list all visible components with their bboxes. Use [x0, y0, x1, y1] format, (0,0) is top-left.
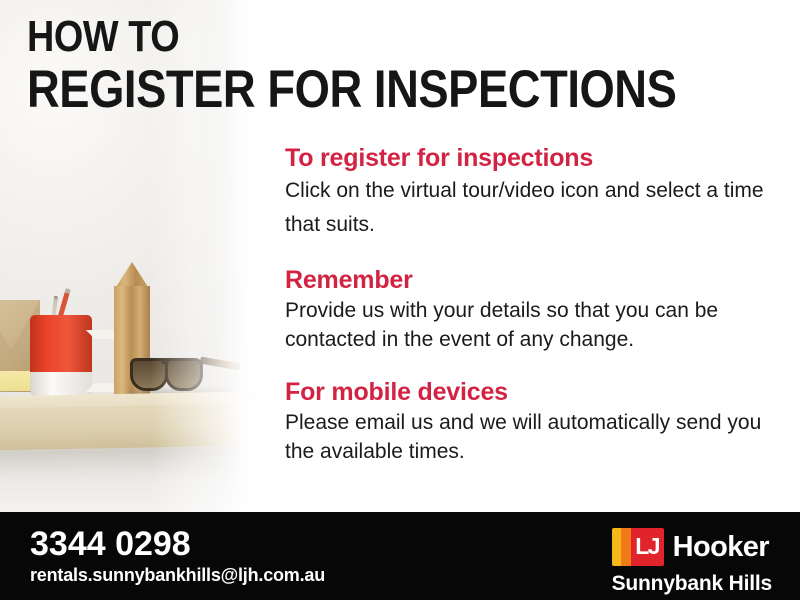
footer-bar: 3344 0298 rentals.sunnybankhills@ljh.com…: [0, 512, 800, 600]
headline-line-1: HOW TO: [27, 14, 680, 60]
headline-line-2: REGISTER FOR INSPECTIONS: [27, 62, 676, 118]
instruction-text: Provide us with your details so that you…: [285, 296, 777, 354]
contact-details: 3344 0298 rentals.sunnybankhills@ljh.com…: [30, 526, 325, 586]
logo-brand-name: Hooker: [673, 531, 769, 564]
page-title: HOW TO REGISTER FOR INSPECTIONS: [27, 14, 787, 118]
instruction-title: For mobile devices: [285, 377, 777, 407]
logo-yellow-bar: [612, 528, 621, 566]
logo-orange-bar: [621, 528, 631, 566]
logo-red-block: LJ: [631, 528, 664, 566]
lj-hooker-logo-icon: LJ: [612, 528, 664, 566]
brand-lockup: LJ Hooker Sunnybank Hills: [612, 528, 772, 596]
logo-row: LJ Hooker: [612, 528, 772, 566]
instructions-list: To register for inspections Click on the…: [285, 143, 777, 466]
instruction-block-remember: Remember Provide us with your details so…: [285, 265, 777, 354]
mug-base-graphic: [30, 372, 92, 397]
poster: HOW TO REGISTER FOR INSPECTIONS To regis…: [0, 0, 800, 600]
photo-fade-bottom-overlay: [0, 452, 262, 512]
phone-number[interactable]: 3344 0298: [30, 526, 325, 563]
instruction-text: Click on the virtual tour/video icon and…: [285, 174, 777, 242]
instruction-title: Remember: [285, 265, 777, 295]
instruction-block-register: To register for inspections Click on the…: [285, 143, 777, 242]
instruction-block-mobile: For mobile devices Please email us and w…: [285, 377, 777, 466]
logo-monogram: LJ: [631, 528, 664, 566]
logo-office-name: Sunnybank Hills: [612, 572, 772, 596]
instruction-title: To register for inspections: [285, 143, 777, 173]
instruction-text: Please email us and we will automaticall…: [285, 408, 777, 466]
email-address[interactable]: rentals.sunnybankhills@ljh.com.au: [30, 564, 325, 586]
